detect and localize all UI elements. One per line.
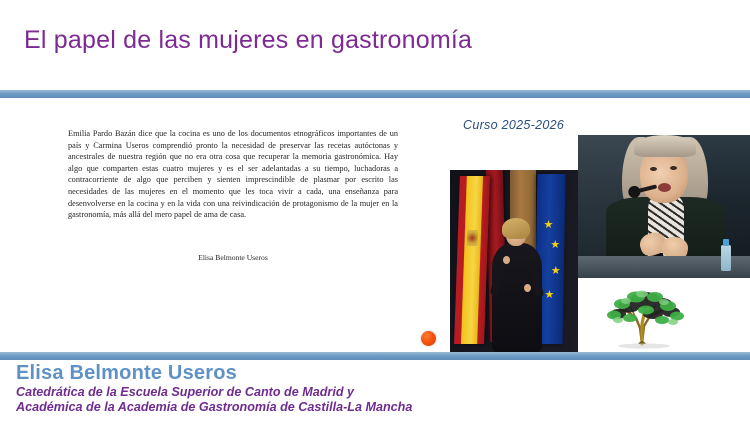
top-divider (0, 90, 750, 98)
eu-star-icon: ★ (543, 220, 553, 231)
photo-speaker (578, 135, 750, 278)
photo-flags-spain-flag (454, 176, 490, 344)
photo-flags-person-hand-left (503, 256, 510, 264)
photo-speaker-mouth (658, 183, 671, 192)
slide-canvas: El papel de las mujeres en gastronomía E… (0, 0, 750, 422)
eu-star-icon: ★ (544, 290, 554, 301)
footer-speaker-credentials: Catedrática de la Escuela Superior de Ca… (16, 385, 412, 415)
photo-flags-person (490, 222, 544, 353)
footer-speaker-name: Elisa Belmonte Useros (16, 362, 237, 385)
course-label: Curso 2025-2026 (463, 118, 564, 132)
orange-bullet-icon (421, 331, 436, 346)
eu-star-icon: ★ (551, 266, 561, 277)
tree-illustration (598, 284, 690, 350)
photo-speaker-eye-left (650, 167, 657, 171)
footer-credentials-line-2: Académica de la Academia de Gastronomía … (16, 400, 412, 415)
bottom-divider (0, 352, 750, 360)
body-paragraph: Emilia Pardo Bazán dice que la cocina es… (68, 128, 398, 221)
photo-flags: ★ ★ ★ ★ (450, 170, 578, 353)
photo-speaker-eye-right (670, 166, 677, 170)
photo-speaker-water-bottle (721, 245, 731, 271)
photo-flags-person-dress (492, 243, 542, 353)
photo-speaker-hair-top (634, 135, 696, 157)
footer-band: Elisa Belmonte Useros Catedrática de la … (0, 360, 750, 422)
photo-flags-person-hand-right (524, 284, 531, 292)
eu-star-icon: ★ (550, 240, 560, 251)
paragraph-attribution: Elisa Belmonte Useros (68, 253, 398, 262)
footer-credentials-line-1: Catedrática de la Escuela Superior de Ca… (16, 385, 354, 399)
photo-flags-person-hair (502, 218, 530, 239)
page-title: El papel de las mujeres en gastronomía (24, 24, 724, 56)
